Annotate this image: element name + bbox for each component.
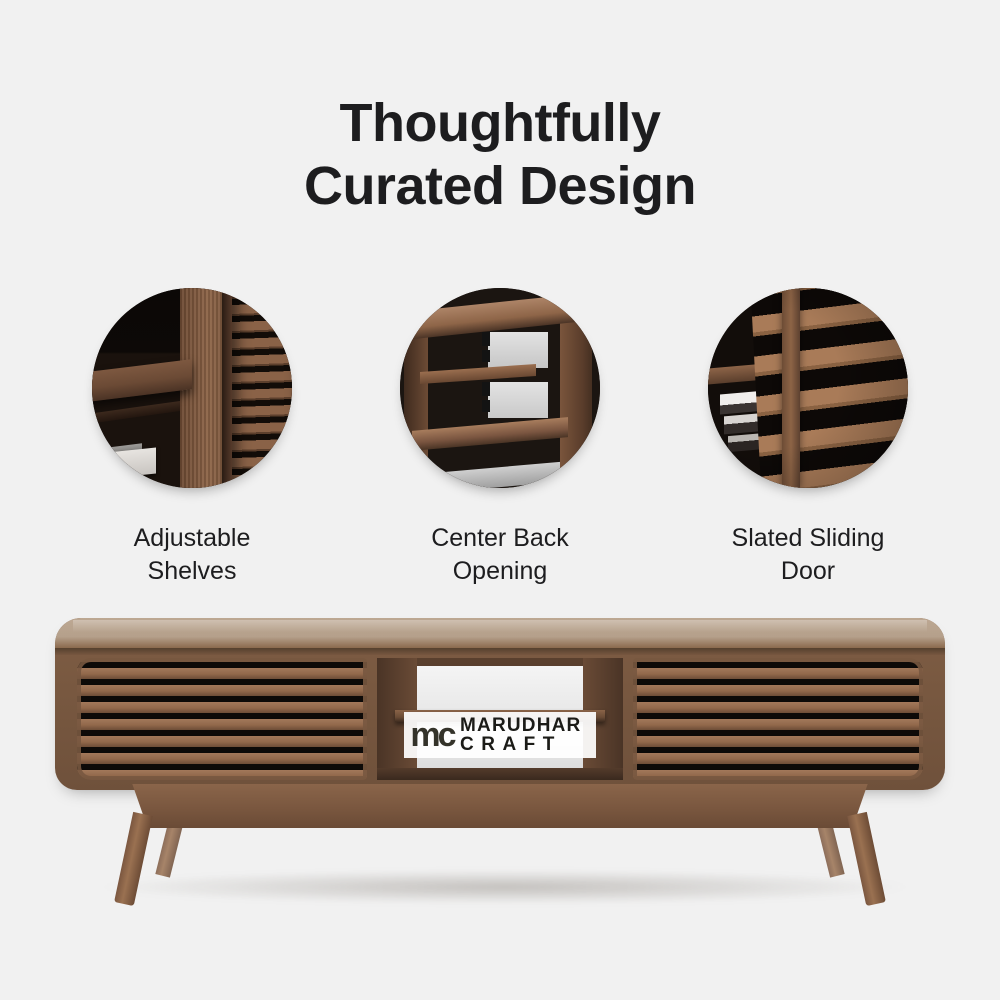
right-slatted-sliding-door bbox=[633, 658, 923, 780]
product-feature-graphic: Thoughtfully Curated Design Adjustable bbox=[0, 0, 1000, 1000]
product-image-tv-console bbox=[55, 618, 945, 918]
page-title: Thoughtfully Curated Design bbox=[0, 92, 1000, 218]
feature-caption: Slated Sliding Door bbox=[732, 522, 885, 588]
feature-caption-line-1: Center Back bbox=[431, 522, 569, 555]
feature-caption: Adjustable Shelves bbox=[134, 522, 251, 588]
feature-item-slated-sliding-door: Slated Sliding Door bbox=[702, 288, 914, 598]
feature-caption-line-1: Adjustable bbox=[134, 522, 251, 555]
feature-caption-line-2: Opening bbox=[431, 555, 569, 588]
feature-list: Adjustable Shelves bbox=[0, 288, 1000, 598]
console-top-edge bbox=[55, 648, 945, 655]
console-top-surface bbox=[55, 618, 945, 652]
brand-name-line-2: CRAFT bbox=[460, 735, 581, 754]
product-shadow bbox=[95, 870, 915, 904]
left-slatted-sliding-door bbox=[77, 658, 367, 780]
feature-caption-line-1: Slated Sliding bbox=[732, 522, 885, 555]
feature-item-center-back-opening: Center Back Opening bbox=[394, 288, 606, 598]
feature-caption: Center Back Opening bbox=[431, 522, 569, 588]
center-back-opening-photo bbox=[400, 288, 600, 488]
console-plinth-rail bbox=[117, 784, 883, 828]
marudhar-monogram-icon: mc bbox=[404, 712, 460, 758]
feature-item-adjustable-shelves: Adjustable Shelves bbox=[86, 288, 298, 598]
adjustable-shelves-photo bbox=[92, 288, 292, 488]
headline-line-2: Curated Design bbox=[0, 155, 1000, 218]
feature-caption-line-2: Door bbox=[732, 555, 885, 588]
upper-open-cubby bbox=[417, 666, 583, 710]
slated-sliding-door-photo bbox=[708, 288, 908, 488]
feature-caption-line-2: Shelves bbox=[134, 555, 251, 588]
headline-line-1: Thoughtfully bbox=[340, 93, 661, 153]
brand-name-line-1: MARUDHAR bbox=[460, 716, 581, 735]
console-body bbox=[55, 618, 945, 790]
brand-watermark: mc MARUDHAR CRAFT bbox=[404, 712, 596, 758]
